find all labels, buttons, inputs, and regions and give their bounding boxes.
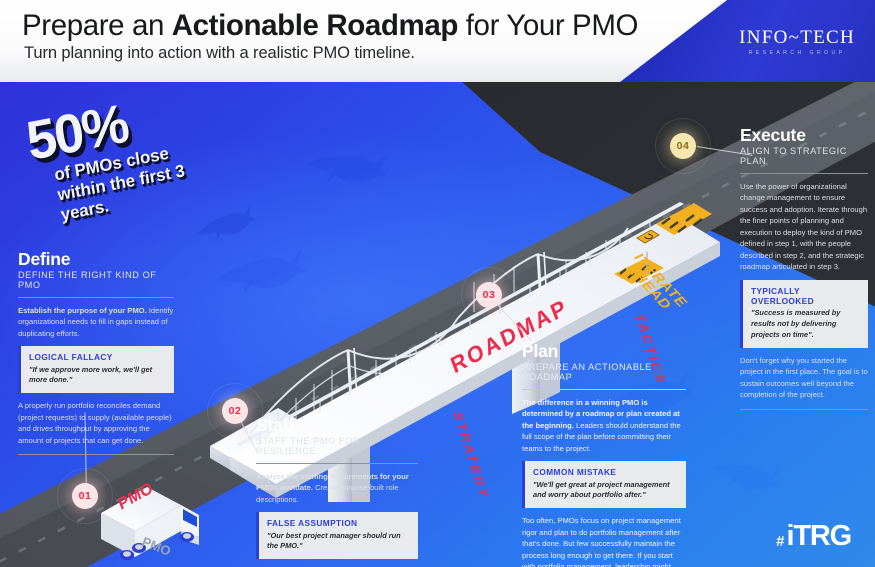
staff-body: Analyze the staffing requirements for yo… [256,471,418,506]
staff-callout: FALSE ASSUMPTION "Our best project manag… [256,512,418,559]
step-marker-04[interactable]: 04 [670,133,696,159]
define-callout-quote: "If we approve more work, we'll get more… [29,365,166,386]
step-panel-define: Define DEFINE THE RIGHT KIND OF PMO Esta… [18,250,174,455]
plan-subtitle: PREPARE AN ACTIONABLE ROADMAP [522,362,686,382]
plan-callout-quote: "We'll get great at project management a… [533,480,678,501]
execute-title: Execute [740,126,868,144]
infographic-root: Prepare an Actionable Roadmap for Your P… [0,0,875,567]
staff-subtitle: STAFF THE PMO FOR RESILIENCE [256,436,418,456]
step-marker-01[interactable]: 01 [72,483,98,509]
step-marker-02[interactable]: 02 [222,398,248,424]
title-part-1: Prepare an [22,9,172,42]
staff-title: Staff [256,416,418,434]
header-bar: Prepare an Actionable Roadmap for Your P… [0,0,875,82]
scene: 50% of PMOs close within the first 3 yea… [0,82,875,567]
define-body: Establish the purpose of your PMO. Ident… [18,305,174,340]
execute-body: Use the power of organizational change m… [740,181,868,273]
define-foot-rule [18,454,174,455]
define-rule [18,297,174,298]
pmo-truck: PMO PMO [95,475,215,567]
plan-body-after: Too often, PMOs focus on project managem… [522,515,686,567]
define-subtitle: DEFINE THE RIGHT KIND OF PMO [18,270,174,290]
plan-callout-title: COMMON MISTAKE [533,467,678,477]
define-body-lead: Establish the purpose of your PMO. [18,306,147,315]
execute-callout-quote: "Success is measured by results not by d… [751,308,860,340]
define-callout-title: LOGICAL FALLACY [29,352,166,362]
logo-wordmark: INFO~TECH [739,28,855,47]
step-panel-staff: Staff STAFF THE PMO FOR RESILIENCE Analy… [256,416,418,567]
info-tech-logo: INFO~TECH RESEARCH GROUP [739,28,855,56]
title-part-2: for Your PMO [458,9,638,42]
step-marker-03[interactable]: 03 [476,282,502,308]
staff-callout-quote: "Our best project manager should run the… [267,531,410,552]
execute-foot-rule [740,409,868,410]
itrg-hash: # [776,534,784,549]
execute-body-after: Don't forget why you started the project… [740,355,868,401]
staff-callout-title: FALSE ASSUMPTION [267,518,410,528]
plan-rule [522,389,686,390]
step-panel-execute: Execute ALIGN TO STRATEGIC PLAN Use the … [740,126,868,410]
execute-body-rest: Iterate through the finer points of plan… [740,205,867,272]
execute-callout-title: TYPICALLY OVERLOOKED [751,286,860,306]
itrg-wordmark: iTRG [787,524,851,549]
define-callout: LOGICAL FALLACY "If we approve more work… [18,346,174,393]
page-title: Prepare an Actionable Roadmap for Your P… [22,9,638,43]
define-title: Define [18,250,174,268]
plan-callout: COMMON MISTAKE "We'll get great at proje… [522,461,686,508]
staff-rule [256,463,418,464]
step-panel-plan: Plan PREPARE AN ACTIONABLE ROADMAP The d… [522,342,686,567]
plan-title: Plan [522,342,686,360]
execute-rule [740,173,868,174]
page-subtitle: Turn planning into action with a realist… [24,44,415,63]
title-emphasis: Actionable Roadmap [172,9,458,42]
execute-callout: TYPICALLY OVERLOOKED "Success is measure… [740,280,868,348]
define-body-after: A properly run portfolio reconciles dema… [18,400,174,446]
logo-tagline: RESEARCH GROUP [739,50,855,56]
execute-subtitle: ALIGN TO STRATEGIC PLAN [740,146,868,166]
plan-body: The difference in a winning PMO is deter… [522,397,686,455]
itrg-logo: # iTRG [776,524,851,549]
